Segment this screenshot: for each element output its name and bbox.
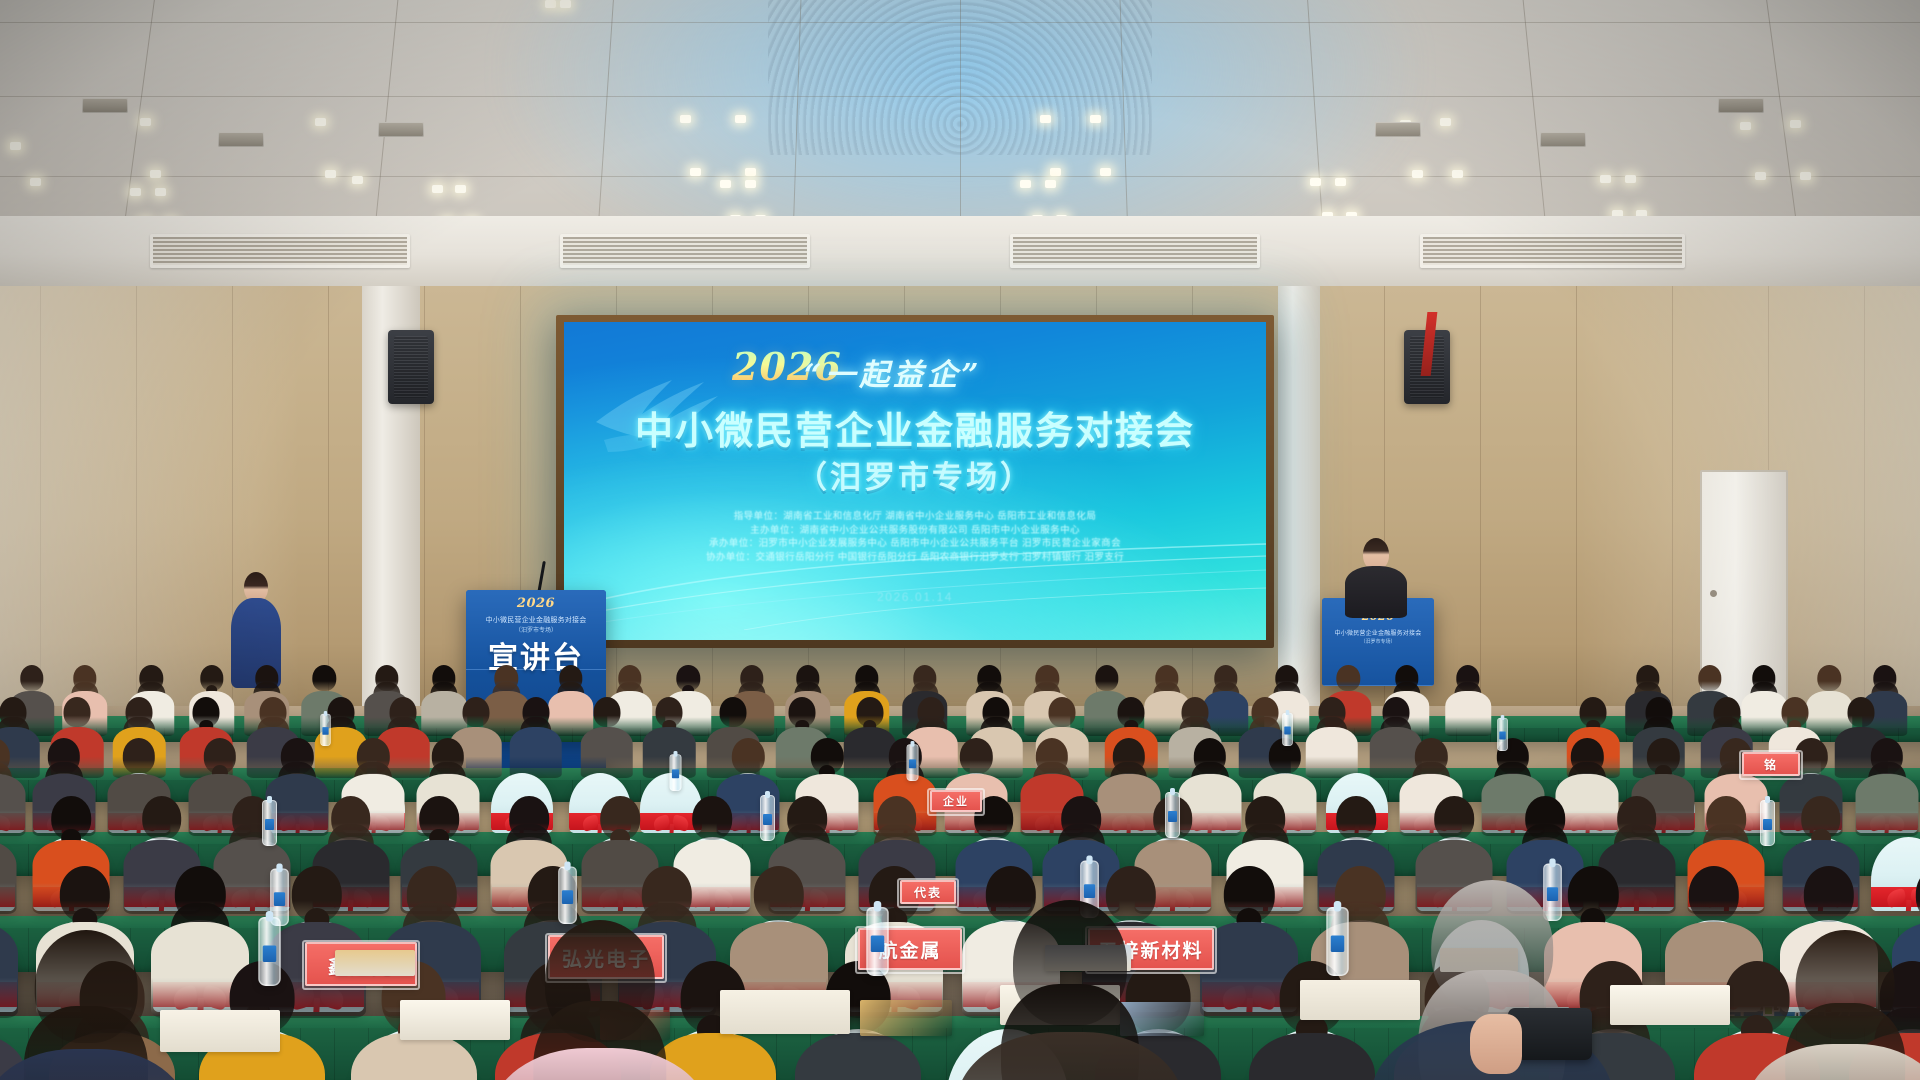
water-bottle (558, 867, 577, 925)
ceiling-downlight (1310, 178, 1321, 186)
audience-head (1435, 796, 1475, 840)
audience-head (1095, 665, 1118, 691)
audience-torso (795, 1033, 921, 1080)
audience-head (1688, 866, 1738, 922)
ceiling-downlight (315, 118, 326, 126)
ceiling-seam-horizontal (0, 22, 1920, 23)
audience-head (1817, 665, 1840, 691)
screen-subtitle-text: （汨罗市专场） (564, 452, 1266, 497)
ceiling-downlight (432, 185, 443, 193)
podium-line-2: （汨罗市专场） (466, 625, 606, 634)
wall-ac-vent (560, 234, 810, 268)
wall-ac-vent (1420, 234, 1685, 268)
ceiling-downlight (130, 188, 141, 196)
audience-head (123, 738, 155, 774)
water-bottle (866, 907, 889, 976)
water-bottle (1326, 907, 1349, 976)
ceiling-downlight (1600, 175, 1611, 183)
table-skirt-fold (334, 1028, 335, 1080)
foreground-torso (490, 1048, 710, 1080)
table-document (335, 950, 415, 976)
audience-member (1442, 665, 1494, 730)
audience-member (506, 697, 566, 772)
ceiling-downlight (1335, 178, 1346, 186)
audience-head (1337, 665, 1360, 691)
wall-speaker-left (388, 330, 434, 404)
audience-head (20, 665, 43, 691)
water-bottle (258, 917, 281, 986)
screen-credit-line: 承办单位：汨罗市中小企业发展服务中心 岳阳市中小企业公共服务平台 汨罗市民营企业… (564, 537, 1266, 551)
ceiling-air-diffuser (218, 132, 264, 147)
audience-head (960, 738, 992, 774)
ceiling-downlight (1090, 115, 1101, 123)
ceiling-downlight (545, 0, 556, 8)
audience-member (1240, 961, 1384, 1080)
table-booklet (860, 1000, 952, 1036)
ceiling-air-diffuser (1540, 132, 1586, 147)
foreground-attendee-far-right (1741, 930, 1920, 1080)
audience-torso (580, 727, 633, 778)
audience-head (142, 796, 182, 840)
ceiling-downlight (680, 115, 691, 123)
foreground-torso (1746, 1044, 1920, 1080)
led-screen-frame: 2026 “一起益企” 中小微民营企业金融服务对接会 （汨罗市专场） 指导单位：… (556, 315, 1274, 648)
ceiling-downlight (30, 178, 41, 186)
ceiling-seam-horizontal (0, 96, 1920, 97)
audience-head (462, 697, 489, 727)
table-document (1610, 985, 1730, 1025)
ceiling-downlight (720, 180, 731, 188)
water-bottle (262, 800, 277, 846)
name-card-holder (927, 788, 985, 816)
table-name-card: 代表 (900, 880, 956, 904)
ceiling-downlight (1800, 172, 1811, 180)
ceiling-downlight (1755, 172, 1766, 180)
ceiling-downlight (1740, 122, 1751, 130)
wall-column-right (1278, 286, 1320, 706)
ceiling-downlight (1440, 118, 1451, 126)
water-bottle (1282, 713, 1293, 746)
ceiling-downlight (745, 180, 756, 188)
audience-head (1803, 866, 1853, 922)
ceiling-air-diffuser (1375, 122, 1421, 137)
water-bottle (320, 714, 331, 746)
wall-ac-vent (150, 234, 410, 268)
foreground-attendee-center-left (484, 920, 716, 1080)
audience-head (1916, 866, 1920, 922)
wall-panel-seam (1576, 286, 1577, 706)
ceiling-downlight (1040, 115, 1051, 123)
ceiling-air-diffuser (82, 98, 128, 113)
led-screen: 2026 “一起益企” 中小微民营企业金融服务对接会 （汨罗市专场） 指导单位：… (564, 322, 1266, 640)
audience-head (1049, 697, 1076, 727)
audience-head (693, 796, 733, 840)
audience-head (1698, 665, 1721, 691)
audience-head (753, 866, 803, 922)
presenter-at-podium (1340, 538, 1412, 614)
audience-head (720, 697, 747, 727)
wall-panel-seam (1480, 286, 1481, 706)
audience-member (577, 697, 637, 772)
water-bottle (1760, 800, 1775, 846)
conference-hall-photo: 2026 “一起益企” 中小微民营企业金融服务对接会 （汨罗市专场） 指导单位：… (0, 0, 1920, 1080)
speaker-podium-line-1: 中小微民营企业金融服务对接会 (1322, 628, 1434, 637)
water-bottle (670, 754, 682, 791)
ceiling-downlight (1452, 170, 1463, 178)
podium-line-1: 中小微民营企业金融服务对接会 (466, 615, 606, 625)
ceiling-downlight (1045, 180, 1056, 188)
presenter-torso (1345, 566, 1407, 618)
screen-date-text: 2026.01.14 (564, 590, 1266, 604)
audience-head (1337, 796, 1377, 840)
name-card-holder (1739, 750, 1803, 780)
ceiling-downlight (735, 115, 746, 123)
audience-head (64, 697, 91, 727)
audience-head (593, 697, 620, 727)
screen-credit-line: 指导单位：湖南省工业和信息化厅 湖南省中小企业服务中心 岳阳市工业和信息化局 (564, 510, 1266, 524)
ceiling-downlight (1625, 175, 1636, 183)
ceiling-downlight (155, 188, 166, 196)
foreground-attendee-left (0, 930, 194, 1080)
audience-head (313, 665, 336, 691)
table-name-card: 企业 (930, 790, 982, 812)
speaker-podium-line-2: （汨罗市专场） (1322, 638, 1434, 645)
ceiling-air-diffuser (378, 122, 424, 137)
audience-torso (1249, 1033, 1375, 1080)
table-name-card: 铭 (1742, 752, 1800, 776)
screen-credits-block: 指导单位：湖南省工业和信息化厅 湖南省中小企业服务中心 岳阳市工业和信息化局主办… (564, 510, 1266, 564)
foreground-torso (956, 1032, 1184, 1080)
audience-torso (1445, 691, 1491, 735)
ceiling-downlight (150, 170, 161, 178)
ceiling-downlight (325, 170, 336, 178)
podium-logo-year: 2026 (466, 596, 606, 611)
audience-head (1848, 697, 1875, 727)
ceiling-downlight (690, 168, 701, 176)
water-bottle (907, 744, 919, 781)
ceiling-downlight (10, 142, 21, 150)
ceiling-downlight (745, 168, 756, 176)
audience-torso (509, 727, 562, 778)
ceiling-downlight (352, 176, 363, 184)
table-document (720, 990, 850, 1034)
hand-holding-phone (1470, 1014, 1522, 1074)
ceiling-downlight (1412, 170, 1423, 178)
door-knob-icon (1710, 590, 1717, 597)
wall-ac-vent (1010, 234, 1260, 268)
ceiling-air-diffuser (1718, 98, 1764, 113)
ceiling-downlight (1050, 168, 1061, 176)
ceiling-downlight (560, 0, 571, 8)
ceiling-downlight (455, 185, 466, 193)
ceiling-downlight (140, 118, 151, 126)
ceiling-downlight (1790, 120, 1801, 128)
wall-panel-seam (328, 286, 329, 706)
water-bottle (1165, 792, 1180, 838)
screen-credit-line: 主办单位：湖南省中小企业公共服务股份有限公司 岳阳市中小企业服务中心 (564, 524, 1266, 538)
water-bottle (760, 795, 775, 841)
foreground-attendee-center (950, 900, 1190, 1080)
screen-title-text: 中小微民营企业金融服务对接会 (564, 400, 1266, 455)
audience-head (732, 738, 764, 774)
screen-slogan-text: “一起益企” (804, 350, 983, 394)
water-bottle (1497, 718, 1508, 751)
screen-credit-line: 协办单位：交通银行岳阳分行 中国银行岳阳分行 岳阳农商银行汨罗支行 汨罗村镇银行… (564, 551, 1266, 565)
ceiling-downlight (1020, 180, 1031, 188)
ceiling-downlight (1100, 168, 1111, 176)
